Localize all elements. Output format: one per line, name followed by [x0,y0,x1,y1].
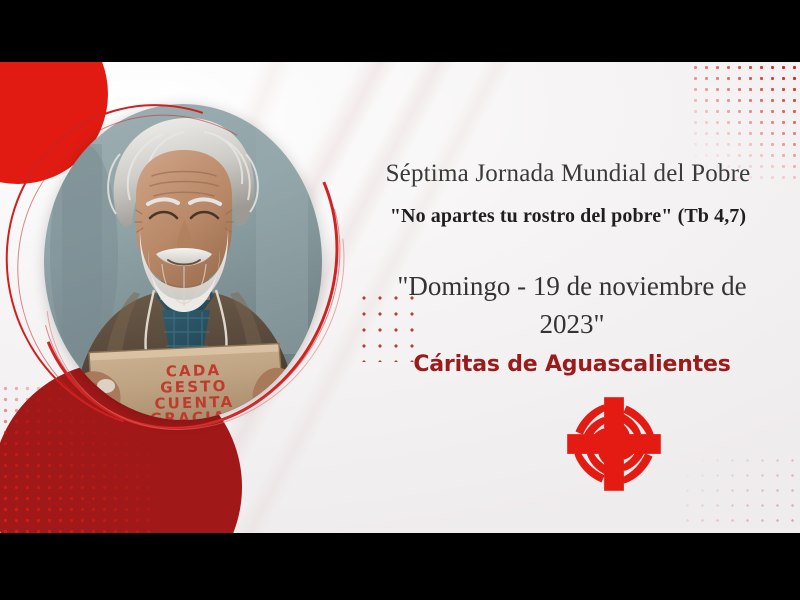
poster-canvas: CADA GESTO CUENTA GRACIAS [0,0,800,600]
letterbox-bar-bottom [0,533,800,600]
poster-slide: CADA GESTO CUENTA GRACIAS [0,62,800,533]
poster-organization: Cáritas de Aguascalientes [372,352,772,377]
poster-verse: "No apartes tu rostro del pobre" (Tb 4,7… [336,205,800,228]
letterbox-bar-top [0,0,800,62]
text-column: Séptima Jornada Mundial del Pobre "No ap… [336,62,800,533]
poster-date: "Domingo - 19 de noviembre de 2023" [372,267,772,343]
caritas-logo-icon [562,392,666,496]
poster-headline: Séptima Jornada Mundial del Pobre [336,160,800,188]
